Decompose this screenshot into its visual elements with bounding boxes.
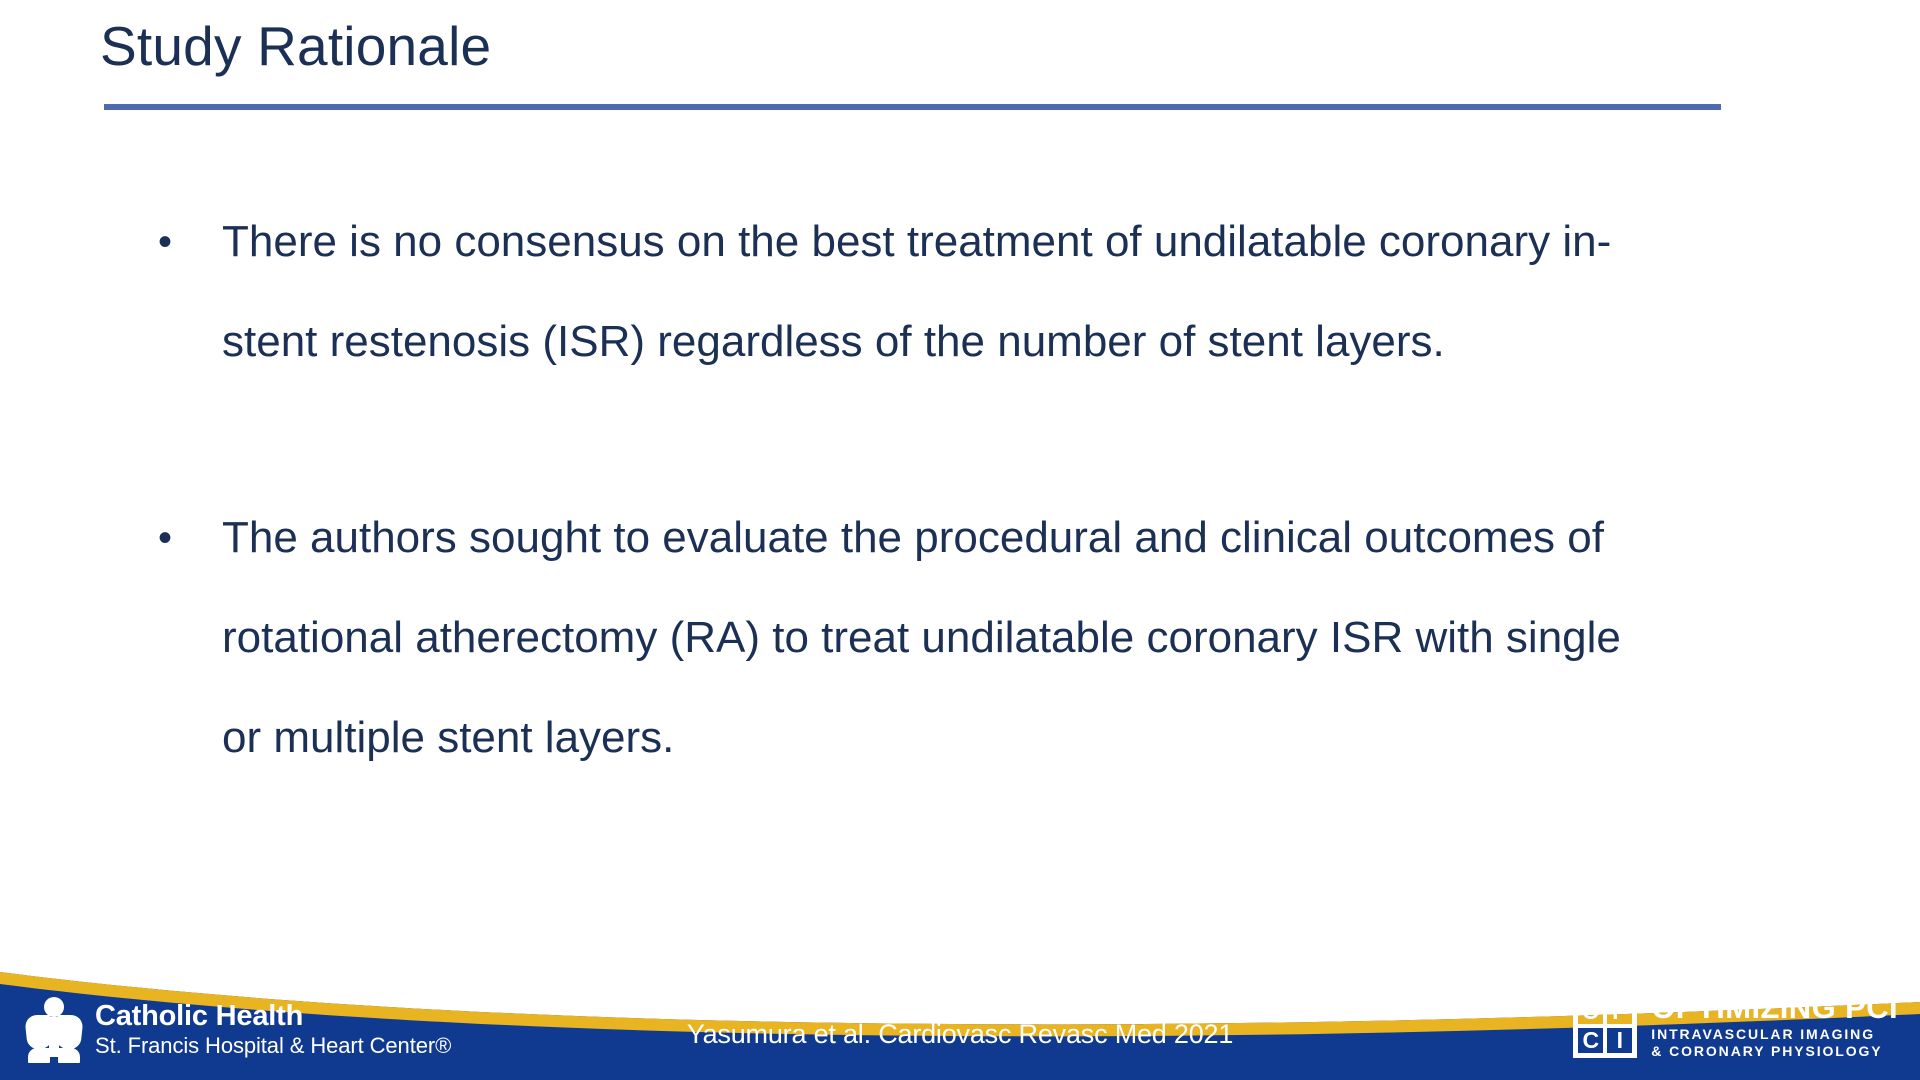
opci-grid-letter: O bbox=[1576, 997, 1605, 1026]
opci-grid-letter: P bbox=[1605, 997, 1634, 1026]
opci-subtitle-line2: & CORONARY PHYSIOLOGY bbox=[1651, 1043, 1898, 1060]
page-title: Study Rationale bbox=[100, 18, 1720, 76]
opci-grid-icon: O P C I bbox=[1573, 994, 1637, 1058]
footer-banner: Catholic Health St. Francis Hospital & H… bbox=[0, 930, 1920, 1080]
bullet-marker-icon: • bbox=[150, 488, 222, 588]
bullet-text: The authors sought to evaluate the proce… bbox=[222, 488, 1642, 788]
bullet-marker-icon: • bbox=[150, 192, 222, 292]
slide: Study Rationale • There is no consensus … bbox=[0, 0, 1920, 1080]
opci-logo: O P C I OPTIMIZING PCI INTRAVASCULAR IMA… bbox=[1573, 990, 1898, 1062]
opci-title: OPTIMIZING PCI bbox=[1651, 992, 1898, 1024]
opci-wordmark: OPTIMIZING PCI INTRAVASCULAR IMAGING & C… bbox=[1651, 992, 1898, 1061]
title-block: Study Rationale bbox=[100, 18, 1720, 76]
opci-grid-letter: I bbox=[1605, 1026, 1634, 1055]
list-item: • There is no consensus on the best trea… bbox=[150, 192, 1710, 392]
bullet-list: • There is no consensus on the best trea… bbox=[150, 192, 1710, 788]
bullet-text: There is no consensus on the best treatm… bbox=[222, 192, 1642, 392]
opci-grid-letter: C bbox=[1576, 1026, 1605, 1055]
list-item: • The authors sought to evaluate the pro… bbox=[150, 488, 1710, 788]
title-underline-rule bbox=[104, 104, 1721, 110]
opci-subtitle-line1: INTRAVASCULAR IMAGING bbox=[1651, 1026, 1898, 1043]
